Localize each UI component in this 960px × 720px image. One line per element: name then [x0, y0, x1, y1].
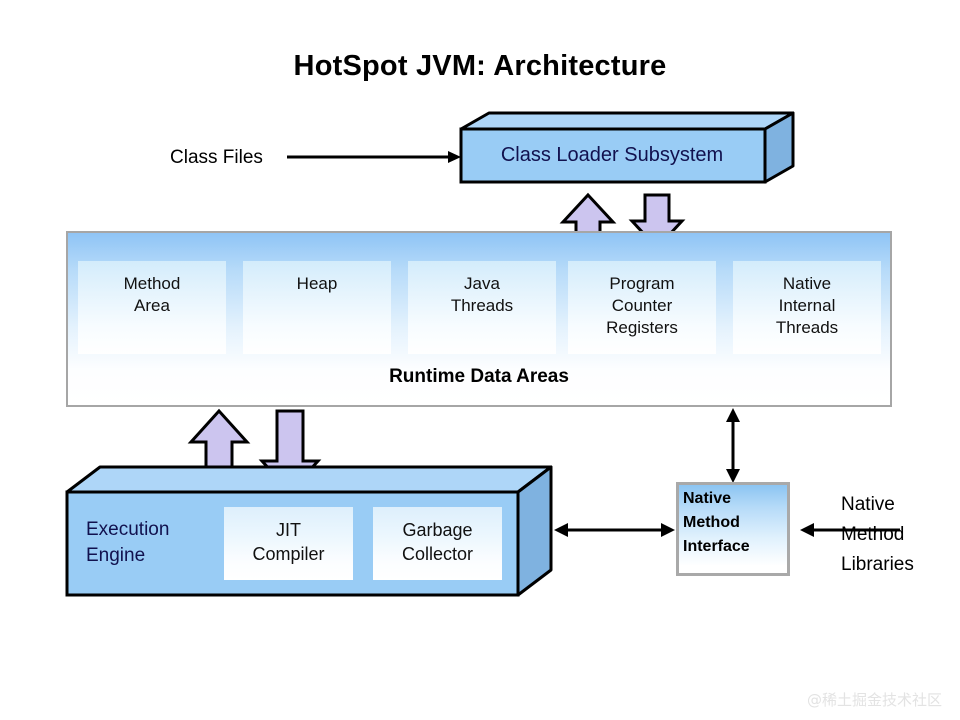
- class-files-connector: [287, 151, 461, 163]
- class-files-label: Class Files: [170, 145, 263, 170]
- rda-cell-java-threads[interactable]: Java Threads: [408, 261, 556, 354]
- runtime-data-areas-label: Runtime Data Areas: [66, 366, 892, 388]
- execution-engine-box-side-face: [518, 467, 551, 595]
- rda-cell-method-area[interactable]: Method Area: [78, 261, 226, 354]
- runtime-to-execution-up-arrow: [191, 411, 247, 492]
- page-title: HotSpot JVM: Architecture: [0, 50, 960, 83]
- execution-to-nmi-connector: [554, 523, 675, 537]
- class-loader-box-top-face: [461, 113, 793, 129]
- ee-cell-garbage-collector[interactable]: Garbage Collector: [373, 507, 502, 580]
- rda-cell-program-counter-registers[interactable]: Program Counter Registers: [568, 261, 716, 354]
- execution-engine-label: Execution Engine: [86, 517, 169, 569]
- rda-cell-native-internal-threads[interactable]: Native Internal Threads: [733, 261, 881, 354]
- rda-cell-heap[interactable]: Heap: [243, 261, 391, 354]
- class-loader-label: Class Loader Subsystem: [467, 144, 757, 167]
- native-method-interface-label: Native Method Interface: [683, 487, 750, 559]
- watermark: @稀土掘金技术社区: [807, 689, 942, 710]
- class-loader-box-side-face: [765, 113, 793, 182]
- native-method-libraries-label: Native Method Libraries: [841, 490, 914, 580]
- diagram-canvas: HotSpot JVM: Architecture: [0, 0, 960, 720]
- runtime-to-execution-down-arrow: [262, 411, 318, 492]
- runtime-to-nmi-connector: [726, 408, 740, 483]
- ee-cell-jit-compiler[interactable]: JIT Compiler: [224, 507, 353, 580]
- execution-engine-box-top-face: [67, 467, 551, 492]
